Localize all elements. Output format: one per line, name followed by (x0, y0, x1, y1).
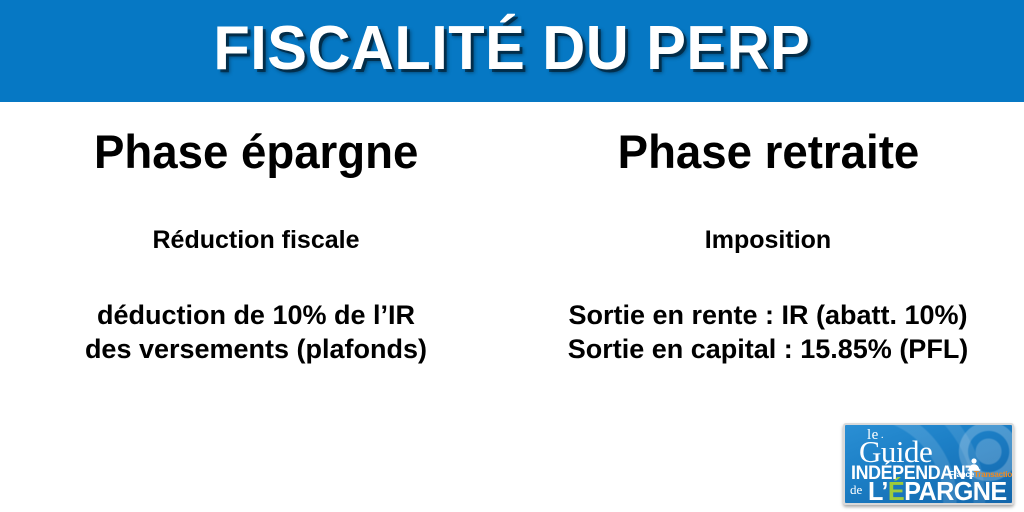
column-heading-retraite: Phase retraite (617, 128, 919, 175)
body-line: des versements (plafonds) (85, 332, 427, 366)
column-body-epargne: déduction de 10% de l’IR des versements … (85, 298, 427, 366)
content-columns: Phase épargne Réduction fiscale déductio… (0, 102, 1024, 402)
page-title: FISCALITÉ DU PERP (214, 18, 811, 84)
column-body-retraite: Sortie en rente : IR (abatt. 10%) Sortie… (568, 298, 969, 366)
column-heading-epargne: Phase épargne (94, 128, 418, 175)
slide-root: FISCALITÉ DU PERP Phase épargne Réductio… (0, 0, 1024, 512)
logo-epargne-prefix: L’ (868, 476, 888, 505)
logo-epargne-accent: É (888, 476, 904, 505)
logo-epargne-rest: PARGNE (904, 476, 1007, 505)
body-line: Sortie en rente : IR (abatt. 10%) (568, 298, 969, 332)
logo-de: de (850, 483, 862, 496)
header-banner: FISCALITÉ DU PERP (0, 0, 1024, 102)
logo-epargne: L’ÉPARGNE (868, 478, 1007, 504)
logo-badge[interactable]: le. Guide INDÉPENDANT FranceTransactions… (843, 423, 1014, 505)
body-line: Sortie en capital : 15.85% (PFL) (568, 332, 969, 366)
column-phase-epargne: Phase épargne Réduction fiscale déductio… (0, 102, 512, 402)
column-phase-retraite: Phase retraite Imposition Sortie en rent… (512, 102, 1024, 402)
column-subheading-epargne: Réduction fiscale (153, 228, 360, 253)
column-subheading-retraite: Imposition (705, 228, 831, 253)
logo-inner: le. Guide INDÉPENDANT FranceTransactions… (845, 425, 1012, 503)
body-line: déduction de 10% de l’IR (85, 298, 427, 332)
